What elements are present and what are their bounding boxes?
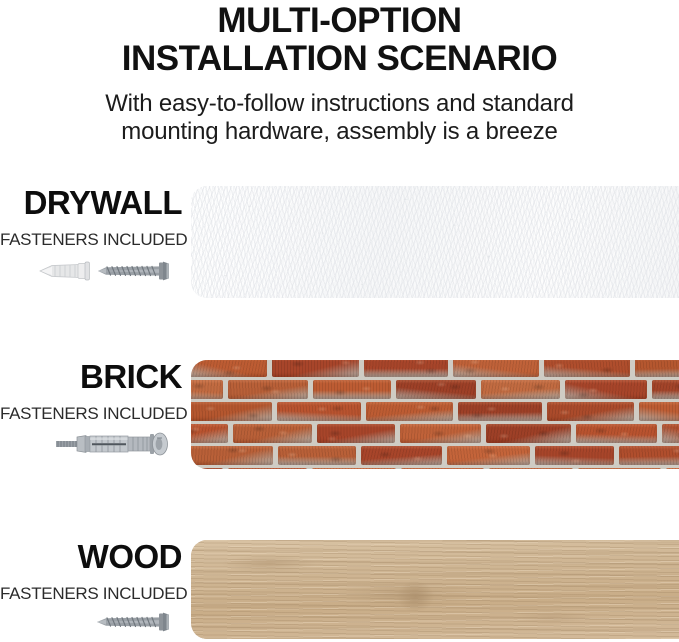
brick-unit — [578, 468, 661, 469]
brick-unit — [662, 424, 679, 443]
wood-texture — [191, 540, 679, 639]
brick-unit — [312, 468, 396, 469]
brick-unit — [666, 468, 679, 469]
brick-unit — [228, 380, 308, 399]
drywall-anchor-icon — [40, 262, 90, 280]
brick-unit — [639, 402, 679, 421]
brick-unit — [191, 402, 272, 421]
brick-unit — [361, 446, 442, 465]
brick-unit — [191, 446, 273, 465]
brick-unit — [277, 402, 361, 421]
brick-unit — [565, 380, 647, 399]
section-wood: WOOD FASTENERS INCLUDED — [0, 540, 679, 642]
page-subtitle-line-2: mounting hardware, assembly is a breeze — [0, 118, 679, 146]
brick-row — [191, 402, 679, 421]
brick-texture — [191, 360, 679, 469]
brick-row — [191, 446, 679, 465]
section-drywall: DRYWALL FASTENERS INCLUDED — [0, 186, 679, 304]
brick-unit — [447, 446, 530, 465]
surface-panel-wood — [191, 540, 679, 639]
brick-fastener-group — [0, 425, 182, 459]
brick-unit — [272, 360, 359, 377]
drywall-fasteners-illustration — [0, 254, 182, 288]
brick-unit — [535, 446, 614, 465]
section-brick: BRICK FASTENERS INCLUDED — [0, 360, 679, 472]
drywall-fastener-group — [0, 254, 182, 288]
wood-labels: WOOD FASTENERS INCLUDED — [0, 540, 182, 602]
brick-labels: BRICK FASTENERS INCLUDED — [0, 360, 182, 422]
brick-row — [191, 424, 679, 443]
drywall-texture — [191, 186, 679, 298]
surface-panel-drywall — [191, 186, 679, 298]
brick-unit — [317, 424, 395, 443]
brick-unit — [191, 424, 228, 443]
brick-unit — [652, 380, 679, 399]
header: MULTI-OPTION INSTALLATION SCENARIO With … — [0, 0, 679, 146]
brick-unit — [401, 468, 484, 469]
brick-unit — [366, 402, 453, 421]
sleeve-anchor-icon — [56, 433, 168, 455]
brick-unit — [619, 446, 679, 465]
brick-unit — [458, 402, 542, 421]
page-title-line-1: MULTI-OPTION — [0, 0, 679, 40]
drywall-labels: DRYWALL FASTENERS INCLUDED — [0, 186, 182, 248]
brick-unit — [489, 468, 573, 469]
fasteners-included-label-brick: FASTENERS INCLUDED — [0, 405, 182, 422]
screw-icon — [97, 613, 169, 632]
wood-fastener-group — [0, 605, 182, 639]
page-subtitle-line-1: With easy-to-follow instructions and sta… — [0, 78, 679, 118]
brick-unit — [396, 380, 476, 399]
wood-fastener-illustration — [0, 605, 182, 639]
brick-row — [191, 468, 679, 469]
brick-unit — [481, 380, 560, 399]
brick-unit — [544, 360, 630, 377]
page-title-line-2: INSTALLATION SCENARIO — [0, 40, 679, 78]
brick-unit — [453, 360, 539, 377]
brick-unit — [400, 424, 481, 443]
brick-unit — [547, 402, 634, 421]
brick-unit — [191, 468, 223, 469]
brick-row — [191, 360, 679, 377]
material-name-wood: WOOD — [0, 540, 182, 573]
surface-panel-brick — [191, 360, 679, 469]
brick-unit — [635, 360, 679, 377]
brick-unit — [191, 360, 267, 377]
brick-unit — [313, 380, 391, 399]
fasteners-included-label-wood: FASTENERS INCLUDED — [0, 585, 182, 602]
screw-icon — [98, 262, 169, 281]
brick-unit — [278, 446, 356, 465]
brick-fastener-illustration — [0, 425, 182, 463]
brick-unit — [191, 380, 223, 399]
brick-unit — [576, 424, 657, 443]
brick-row — [191, 380, 679, 399]
material-name-drywall: DRYWALL — [0, 186, 182, 219]
fasteners-included-label-drywall: FASTENERS INCLUDED — [0, 231, 182, 248]
material-name-brick: BRICK — [0, 360, 182, 393]
brick-unit — [486, 424, 571, 443]
brick-unit — [364, 360, 448, 377]
brick-unit — [233, 424, 312, 443]
brick-unit — [228, 468, 307, 469]
